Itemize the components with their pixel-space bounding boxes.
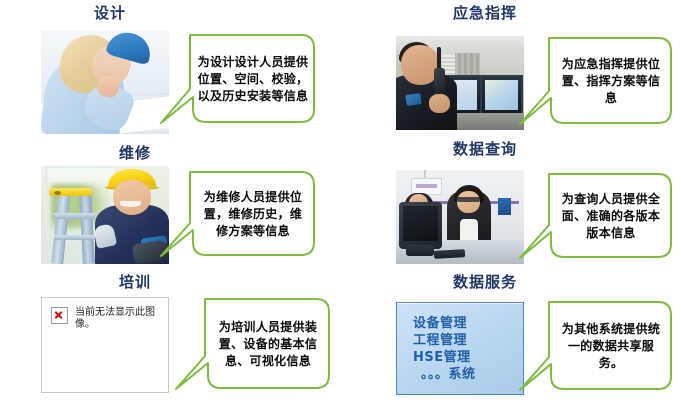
callout-emergency: 为应急指挥提供位置、指挥方案等信息 (519, 36, 673, 126)
broken-image-text: 当前无法显示此图像。 (75, 307, 161, 331)
callout-design: 为设计设计人员提供位置、空间、校验，以及历史安装等信息 (160, 33, 316, 125)
photo-maintenance (41, 166, 169, 264)
section-heading-emergency: 应急指挥 (424, 4, 546, 22)
callout-emergency-text: 为应急指挥提供位置、指挥方案等信息 (553, 40, 669, 122)
section-heading-design: 设计 (60, 4, 160, 22)
data-service-line-4: 。。。系统 (413, 366, 523, 383)
data-service-box: 设备管理 工程管理 HSE管理 。。。系统 (396, 302, 524, 395)
callout-training-text: 为培训人员提供装置、设备的基本信息、可视化信息 (209, 301, 327, 387)
photo-query (396, 170, 524, 264)
broken-image-placeholder-training: 当前无法显示此图像。 (41, 297, 169, 393)
section-heading-maintenance: 维修 (85, 144, 185, 162)
callout-dataservice: 为其他系统提供统一的数据共享服务。 (519, 300, 673, 392)
photo-design (41, 31, 169, 134)
callout-design-text: 为设计设计人员提供位置、空间、校验，以及历史安装等信息 (193, 37, 313, 121)
section-heading-query: 数据查询 (424, 140, 546, 158)
section-heading-training: 培训 (85, 273, 185, 291)
photo-emergency (396, 36, 524, 130)
data-service-line-1: 设备管理 (413, 315, 523, 332)
callout-maintenance-text: 为维修人员提供位置，维修历史，维修方案等信息 (194, 174, 312, 254)
slide-canvas: 设计 为设计设计人员提供位置、空间、校验，以及历史安装等信息 应急指挥 (0, 0, 681, 400)
data-service-line-2: 工程管理 (413, 332, 523, 349)
callout-training: 为培训人员提供装置、设备的基本信息、可视化信息 (175, 297, 331, 391)
callout-query-text: 为查询人员提供全面、准确的各版本版本信息 (553, 176, 669, 256)
callout-dataservice-text: 为其他系统提供统一的数据共享服务。 (553, 304, 669, 388)
callout-maintenance: 为维修人员提供位置，维修历史，维修方案等信息 (160, 170, 316, 258)
callout-query: 为查询人员提供全面、准确的各版本版本信息 (519, 172, 673, 260)
data-service-line-3: HSE管理 (413, 349, 523, 366)
section-heading-dataservice: 数据服务 (424, 273, 546, 291)
broken-image-icon (51, 307, 68, 324)
